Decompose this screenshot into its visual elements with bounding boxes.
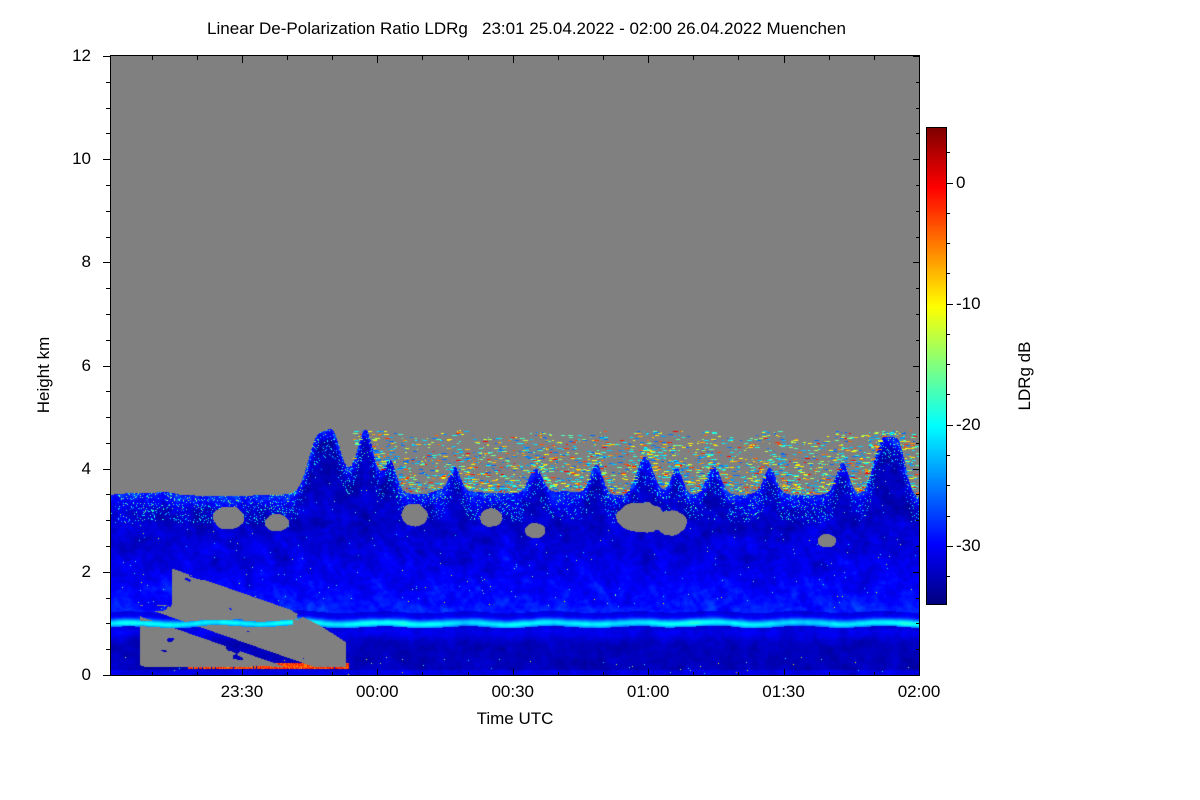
plot-area[interactable] bbox=[110, 55, 920, 676]
x-axis-minor-tick-top bbox=[829, 56, 830, 60]
y-axis-minor-tick-right bbox=[916, 546, 920, 547]
colorbar-minor-tick bbox=[947, 273, 950, 274]
colorbar-tick-label: -20 bbox=[956, 415, 981, 435]
y-axis-tick-label: 12 bbox=[72, 46, 91, 66]
x-axis-major-tick bbox=[784, 669, 785, 676]
x-axis-tick-label: 01:00 bbox=[627, 682, 670, 702]
y-axis-tick-label: 6 bbox=[82, 356, 91, 376]
x-axis-tick-label: 01:30 bbox=[762, 682, 805, 702]
y-axis-major-tick bbox=[103, 159, 110, 160]
y-axis-major-tick bbox=[103, 572, 110, 573]
y-axis-major-tick-right bbox=[913, 366, 920, 367]
x-axis-major-tick bbox=[648, 669, 649, 676]
y-axis-minor-tick bbox=[106, 82, 110, 83]
y-axis-minor-tick-right bbox=[916, 623, 920, 624]
x-axis-major-tick bbox=[513, 669, 514, 676]
y-axis-minor-tick bbox=[106, 314, 110, 315]
radar-figure: Linear De-Polarization Ratio LDRg 23:01 … bbox=[0, 0, 1200, 800]
y-axis-tick-label: 4 bbox=[82, 459, 91, 479]
colorbar-gradient bbox=[927, 128, 946, 604]
colorbar-tick-label: 0 bbox=[956, 173, 965, 193]
x-axis-tick-label: 02:00 bbox=[898, 682, 941, 702]
y-axis-minor-tick bbox=[106, 623, 110, 624]
x-axis-minor-tick bbox=[693, 672, 694, 676]
x-axis-minor-tick-top bbox=[287, 56, 288, 60]
y-axis-minor-tick bbox=[106, 649, 110, 650]
y-axis-minor-tick-right bbox=[916, 340, 920, 341]
y-axis-minor-tick bbox=[106, 237, 110, 238]
y-axis-minor-tick-right bbox=[916, 133, 920, 134]
y-axis-minor-tick bbox=[106, 185, 110, 186]
x-axis-major-tick-top bbox=[919, 56, 920, 63]
y-axis-major-tick bbox=[103, 262, 110, 263]
x-axis-minor-tick-top bbox=[874, 56, 875, 60]
y-axis-minor-tick-right bbox=[916, 598, 920, 599]
y-axis-minor-tick-right bbox=[916, 443, 920, 444]
y-axis-tick-label: 2 bbox=[82, 562, 91, 582]
y-axis-minor-tick-right bbox=[916, 314, 920, 315]
x-axis-major-tick-top bbox=[377, 56, 378, 63]
x-axis-minor-tick-top bbox=[468, 56, 469, 60]
y-axis-major-tick-right bbox=[913, 262, 920, 263]
y-axis-minor-tick-right bbox=[916, 494, 920, 495]
x-axis-major-tick-top bbox=[784, 56, 785, 63]
y-axis-minor-tick bbox=[106, 598, 110, 599]
colorbar-minor-tick bbox=[947, 485, 950, 486]
y-axis-minor-tick bbox=[106, 288, 110, 289]
y-axis-minor-tick-right bbox=[916, 417, 920, 418]
colorbar-tick-label: -10 bbox=[956, 294, 981, 314]
x-axis-major-tick-top bbox=[513, 56, 514, 63]
colorbar-minor-tick bbox=[947, 213, 950, 214]
y-axis-minor-tick-right bbox=[916, 391, 920, 392]
x-axis-major-tick-top bbox=[242, 56, 243, 63]
y-axis-minor-tick bbox=[106, 546, 110, 547]
y-axis-minor-tick-right bbox=[916, 237, 920, 238]
colorbar-major-tick bbox=[947, 304, 953, 305]
x-axis-major-tick-top bbox=[648, 56, 649, 63]
colorbar-minor-tick bbox=[947, 576, 950, 577]
y-axis-minor-tick-right bbox=[916, 108, 920, 109]
x-axis-major-tick bbox=[242, 669, 243, 676]
colorbar-tick-label: -30 bbox=[956, 536, 981, 556]
x-axis-tick-label: 23:30 bbox=[221, 682, 264, 702]
y-axis-minor-tick bbox=[106, 494, 110, 495]
x-axis-minor-tick-top bbox=[332, 56, 333, 60]
x-axis-minor-tick bbox=[152, 672, 153, 676]
y-axis-minor-tick-right bbox=[916, 185, 920, 186]
y-axis-minor-tick bbox=[106, 417, 110, 418]
y-axis-minor-tick bbox=[106, 133, 110, 134]
x-axis-minor-tick bbox=[603, 672, 604, 676]
y-axis-major-tick bbox=[103, 469, 110, 470]
y-axis-tick-label: 0 bbox=[82, 665, 91, 685]
x-axis-minor-tick bbox=[738, 672, 739, 676]
colorbar-minor-tick bbox=[947, 394, 950, 395]
x-axis-minor-tick-top bbox=[197, 56, 198, 60]
ldr-heatmap-canvas[interactable] bbox=[111, 56, 919, 675]
colorbar[interactable] bbox=[926, 127, 947, 605]
colorbar-major-tick bbox=[947, 425, 953, 426]
colorbar-minor-tick bbox=[947, 364, 950, 365]
x-axis-minor-tick-top bbox=[422, 56, 423, 60]
y-axis-major-tick-right bbox=[913, 159, 920, 160]
x-axis-tick-label: 00:30 bbox=[491, 682, 534, 702]
x-axis-minor-tick-top bbox=[558, 56, 559, 60]
x-axis-minor-tick bbox=[332, 672, 333, 676]
y-axis-minor-tick-right bbox=[916, 211, 920, 212]
colorbar-minor-tick bbox=[947, 516, 950, 517]
y-axis-minor-tick-right bbox=[916, 649, 920, 650]
y-axis-minor-tick-right bbox=[916, 288, 920, 289]
x-axis-minor-tick-top bbox=[738, 56, 739, 60]
x-axis-major-tick bbox=[377, 669, 378, 676]
colorbar-minor-tick bbox=[947, 243, 950, 244]
y-axis-tick-label: 8 bbox=[82, 252, 91, 272]
x-axis-minor-tick bbox=[468, 672, 469, 676]
y-axis-tick-label: 10 bbox=[72, 149, 91, 169]
y-axis-minor-tick-right bbox=[916, 82, 920, 83]
x-axis-minor-tick bbox=[874, 672, 875, 676]
x-axis-minor-tick-top bbox=[693, 56, 694, 60]
page-title: Linear De-Polarization Ratio LDRg 23:01 … bbox=[0, 19, 1053, 39]
y-axis-major-tick bbox=[103, 366, 110, 367]
y-axis-major-tick bbox=[103, 675, 110, 676]
colorbar-major-tick bbox=[947, 546, 953, 547]
y-axis-minor-tick bbox=[106, 520, 110, 521]
x-axis-minor-tick-top bbox=[152, 56, 153, 60]
y-axis-major-tick-right bbox=[913, 572, 920, 573]
x-axis-major-tick bbox=[919, 669, 920, 676]
y-axis-major-tick bbox=[103, 56, 110, 57]
x-axis-minor-tick bbox=[287, 672, 288, 676]
y-axis-title: Height km bbox=[34, 315, 54, 435]
colorbar-minor-tick bbox=[947, 334, 950, 335]
colorbar-major-tick bbox=[947, 183, 953, 184]
x-axis-title: Time UTC bbox=[110, 709, 920, 729]
y-axis-minor-tick-right bbox=[916, 520, 920, 521]
y-axis-major-tick-right bbox=[913, 469, 920, 470]
y-axis-minor-tick bbox=[106, 391, 110, 392]
x-axis-minor-tick bbox=[558, 672, 559, 676]
y-axis-minor-tick bbox=[106, 340, 110, 341]
colorbar-minor-tick bbox=[947, 152, 950, 153]
y-axis-minor-tick bbox=[106, 443, 110, 444]
y-axis-minor-tick bbox=[106, 211, 110, 212]
x-axis-minor-tick bbox=[829, 672, 830, 676]
y-axis-minor-tick bbox=[106, 108, 110, 109]
x-axis-minor-tick bbox=[197, 672, 198, 676]
x-axis-tick-label: 00:00 bbox=[356, 682, 399, 702]
colorbar-minor-tick bbox=[947, 455, 950, 456]
x-axis-minor-tick-top bbox=[603, 56, 604, 60]
x-axis-minor-tick bbox=[422, 672, 423, 676]
colorbar-title: LDRg dB bbox=[1015, 296, 1035, 456]
